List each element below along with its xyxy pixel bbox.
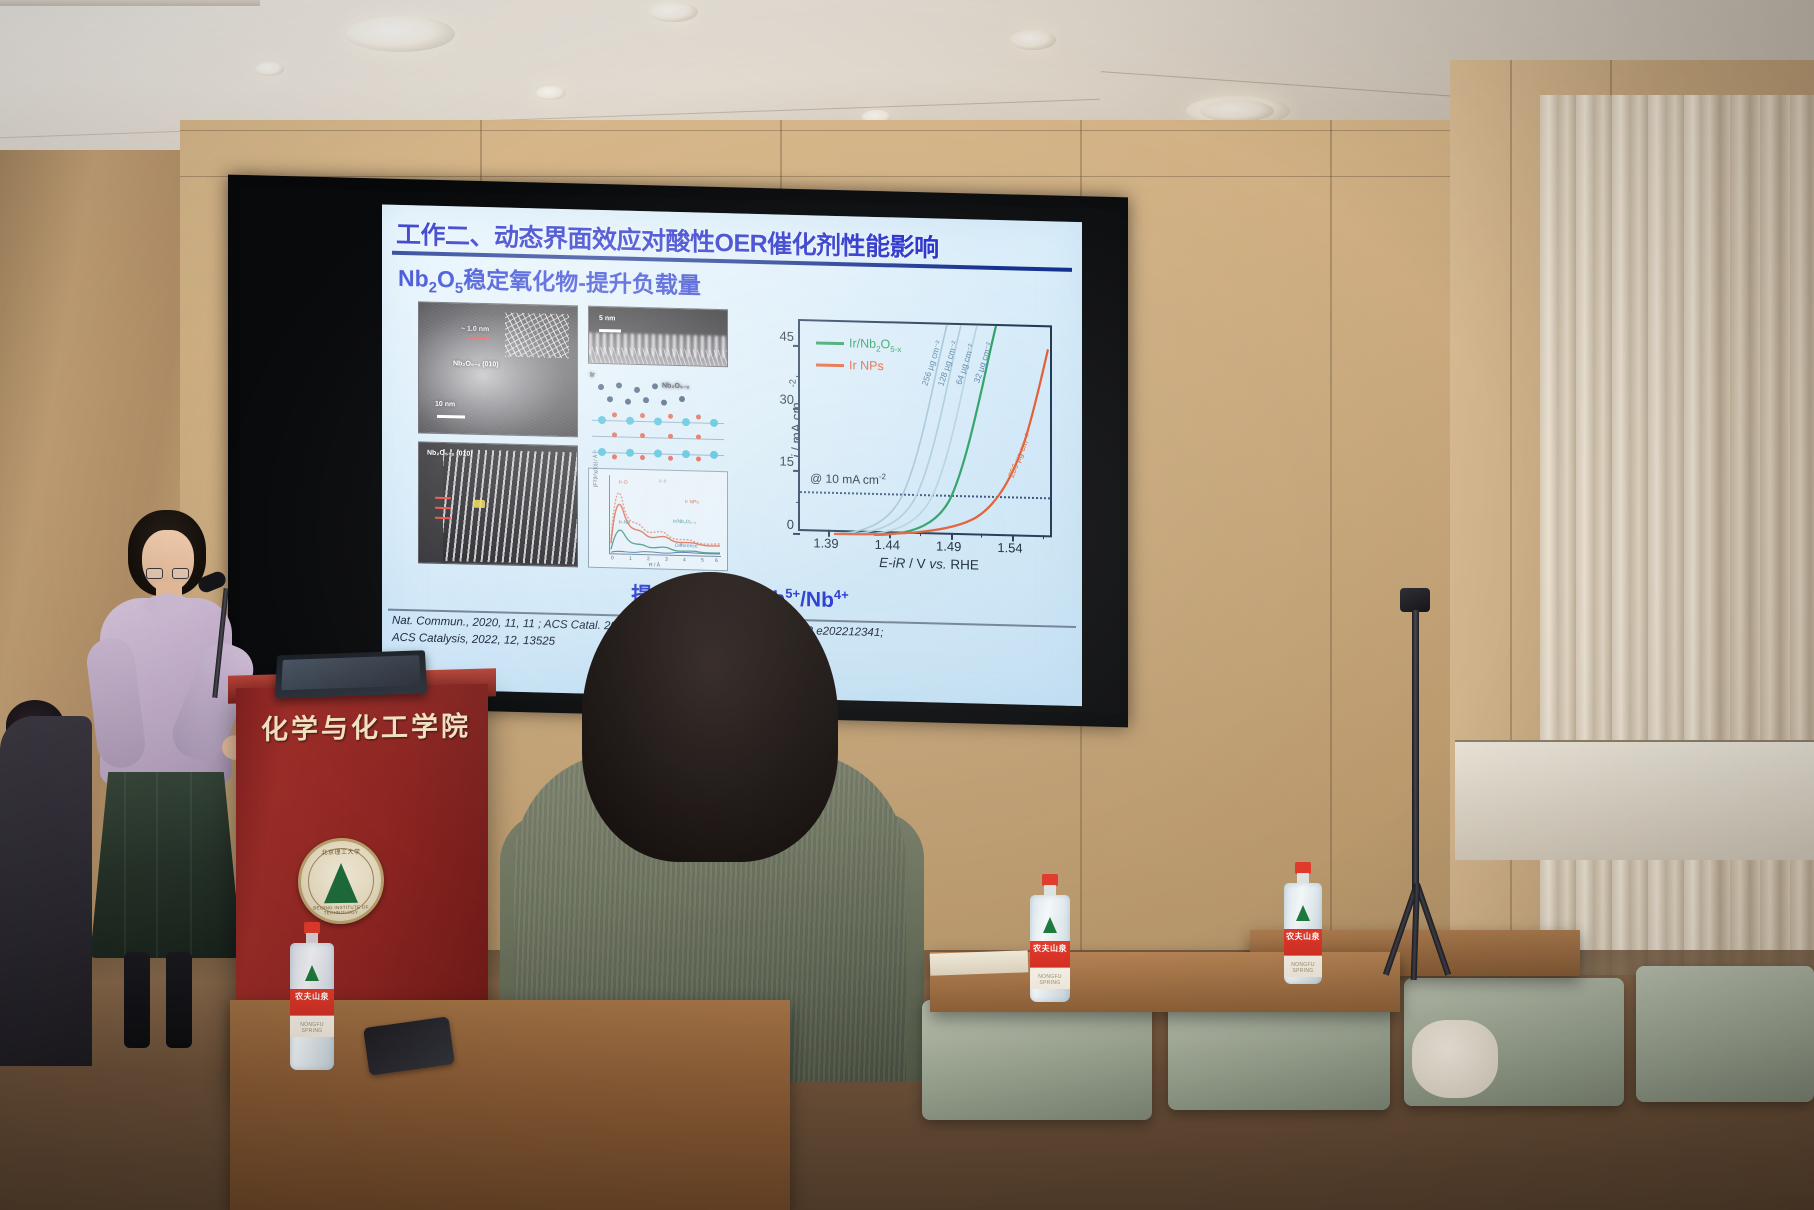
bottle-body: 农夫山泉 NONGFU SPRING	[1284, 883, 1322, 984]
chart-ytick-30: 30	[760, 391, 794, 407]
bottle-brand: 农夫山泉	[290, 991, 334, 1002]
ceiling-light	[1200, 100, 1274, 122]
legend-label-mid: O	[881, 337, 891, 351]
subtitle-sub-2: 2	[429, 279, 437, 296]
bottle-brand: 农夫山泉	[1284, 931, 1322, 942]
exafs-label-ir-oxide: Ir/Nb₂O₅₋ₓ	[673, 519, 696, 526]
chart-x-axis-label: E-iR / V vs. RHE	[804, 553, 1054, 574]
model-label-ir: Ir	[590, 372, 595, 379]
chart-ytick-45: 45	[760, 328, 794, 344]
exafs-plot: Ir-O Ir-Ir Ir NPs Ir-Nb Ir/Nb₂O₅₋ₓ Diffe…	[588, 468, 728, 572]
window-sill	[1455, 740, 1814, 860]
presenter-leg-left	[124, 952, 150, 1048]
legend-swatch-orange	[816, 364, 844, 368]
tem-label-scale: 10 nm	[435, 401, 455, 409]
exafs-ylabel: |FT(k³χ(k))| / Å⁻⁴	[593, 417, 599, 487]
tem-image-nanoparticle: ~ 1.0 nm Nb₂O₅₋ₓ (010) 10 nm	[418, 301, 578, 437]
side-person-body	[0, 716, 92, 1066]
ceiling-light	[1010, 30, 1056, 50]
ceiling-light	[345, 16, 455, 52]
university-emblem: 北京理工大学 BEIJING INSTITUTE OF TECHNOLOGY	[298, 837, 384, 925]
bottle-tree-icon	[1296, 905, 1310, 921]
chart-xtick-154: 1.54	[997, 540, 1022, 556]
pine-tree-icon	[324, 863, 358, 904]
glasses-icon	[172, 568, 189, 579]
conference-room-scene: 工作二、动态界面效应对酸性OER催化剂性能影响 Nb2O5稳定氧化物-提升负载量…	[0, 0, 1814, 1210]
cushion	[1412, 1020, 1498, 1098]
tem-label-phase: Nb₂O₅₋ₓ (010)	[453, 359, 499, 368]
presenter-skirt	[90, 772, 242, 958]
exafs-label-ir-o: Ir-O	[619, 479, 628, 485]
exafs-label-difference: Difference	[675, 543, 698, 550]
bottle-brand-en: NONGFU SPRING	[1284, 962, 1322, 974]
tem-label-phase: Nb₂O₅₋ₓ (010)	[427, 449, 473, 458]
bottle-body: 农夫山泉 NONGFU SPRING	[290, 943, 334, 1070]
exafs-label-ir-nps: Ir NPs	[685, 499, 699, 505]
mechanism-slash: /Nb	[800, 588, 834, 612]
bottle-tree-icon	[305, 965, 319, 981]
tem-label-scale: 5 nm	[599, 315, 615, 322]
water-bottle: 农夫山泉 NONGFU SPRING	[1284, 862, 1322, 984]
water-bottle: 农夫山泉 NONGFU SPRING	[290, 922, 334, 1070]
chair	[1636, 966, 1814, 1102]
legend-label-prefix: Ir/Nb	[849, 336, 876, 351]
laptop-screen[interactable]	[281, 655, 420, 690]
exafs-xtick: 6	[715, 558, 718, 564]
tem-label-spacing: ~ 1.0 nm	[461, 325, 489, 333]
bottle-brand: 农夫山泉	[1030, 943, 1070, 954]
ceiling-light	[648, 2, 698, 22]
exafs-xtick: 5	[701, 558, 704, 564]
presenter-leg-right	[166, 952, 192, 1048]
ceiling-light	[536, 86, 566, 100]
water-bottle: 农夫山泉 NONGFU SPRING	[1030, 874, 1070, 1002]
chart-ytick-0: 0	[760, 516, 794, 532]
exafs-xtick: 4	[683, 557, 686, 563]
legend-item-ir-nps: Ir NPs	[816, 357, 884, 373]
legend-label-ir-nps: Ir NPs	[849, 358, 884, 373]
chair	[922, 1000, 1152, 1120]
subtitle-tail: 稳定氧化物-提升负载量	[463, 267, 701, 299]
bottle-brand-en: NONGFU SPRING	[290, 1022, 334, 1034]
mechanism-sup-4plus: 4+	[834, 587, 849, 602]
exafs-xtick: 0	[611, 555, 614, 561]
audience-person-hair	[582, 572, 838, 862]
curve-64ug	[860, 323, 977, 538]
subtitle-o: O	[437, 266, 455, 292]
emblem-university-name: 北京理工大学	[301, 846, 381, 856]
subtitle-sub-5: 5	[455, 280, 463, 297]
exafs-xtick: 3	[665, 557, 668, 563]
chart-xtick-149: 1.49	[936, 538, 961, 554]
ceiling-slot	[0, 0, 260, 6]
camera-head	[1400, 588, 1430, 612]
model-label-oxide: Nb₂O₅₋ₓ	[662, 382, 689, 391]
subtitle-nb: Nb	[398, 265, 429, 292]
emblem-university-name-english: BEIJING INSTITUTE OF TECHNOLOGY	[301, 904, 381, 915]
glasses-icon	[146, 568, 163, 579]
exafs-xtick: 1	[629, 556, 632, 562]
papers-on-table	[930, 950, 1029, 975]
mechanism-sup-5plus: 5+	[785, 586, 800, 601]
bottle-tree-icon	[1043, 917, 1057, 933]
tem-image-lattice: Nb₂O₅₋ₓ (010)	[418, 441, 578, 567]
chart-plot-area: @ 10 mA cm-2 2	[798, 319, 1052, 537]
laptop	[275, 650, 427, 698]
chart-ytick-15: 15	[760, 453, 794, 469]
legend-swatch-green	[816, 342, 844, 346]
atomic-structure-model: Ir Nb₂O₅₋ₓ	[588, 372, 728, 466]
chart-xtick-139: 1.39	[813, 535, 838, 551]
exafs-label-ir-nb: Ir-Nb	[619, 519, 630, 525]
lsv-chart: j / mA cmgeo-2	[744, 312, 1056, 578]
chart-xtick-144: 1.44	[875, 537, 900, 553]
chart-curves	[800, 321, 1054, 541]
podium-department-text: 化学与化工学院	[246, 704, 486, 747]
bottle-label: 农夫山泉 NONGFU SPRING	[1030, 941, 1070, 989]
ceiling-light	[256, 62, 284, 76]
slide-subtitle: Nb2O5稳定氧化物-提升负载量	[398, 259, 701, 303]
tem-image-cross-section: 5 nm	[588, 306, 728, 368]
curve-128ug	[846, 322, 961, 537]
legend-item-ir-nb2o5x: Ir/Nb2O5-x	[816, 335, 901, 354]
bottle-label: 农夫山泉 NONGFU SPRING	[290, 989, 334, 1037]
curtain	[1700, 95, 1814, 995]
legend-label-sub2: 5-x	[890, 345, 901, 354]
bottle-body: 农夫山泉 NONGFU SPRING	[1030, 895, 1070, 1002]
bottle-label: 农夫山泉 NONGFU SPRING	[1284, 929, 1322, 977]
bottle-brand-en: NONGFU SPRING	[1030, 974, 1070, 986]
presenter-collar	[144, 594, 192, 616]
tripod-column	[1412, 610, 1419, 892]
exafs-label-ir-ir: Ir-Ir	[659, 478, 667, 484]
exafs-xlabel: R / Å	[649, 562, 660, 568]
